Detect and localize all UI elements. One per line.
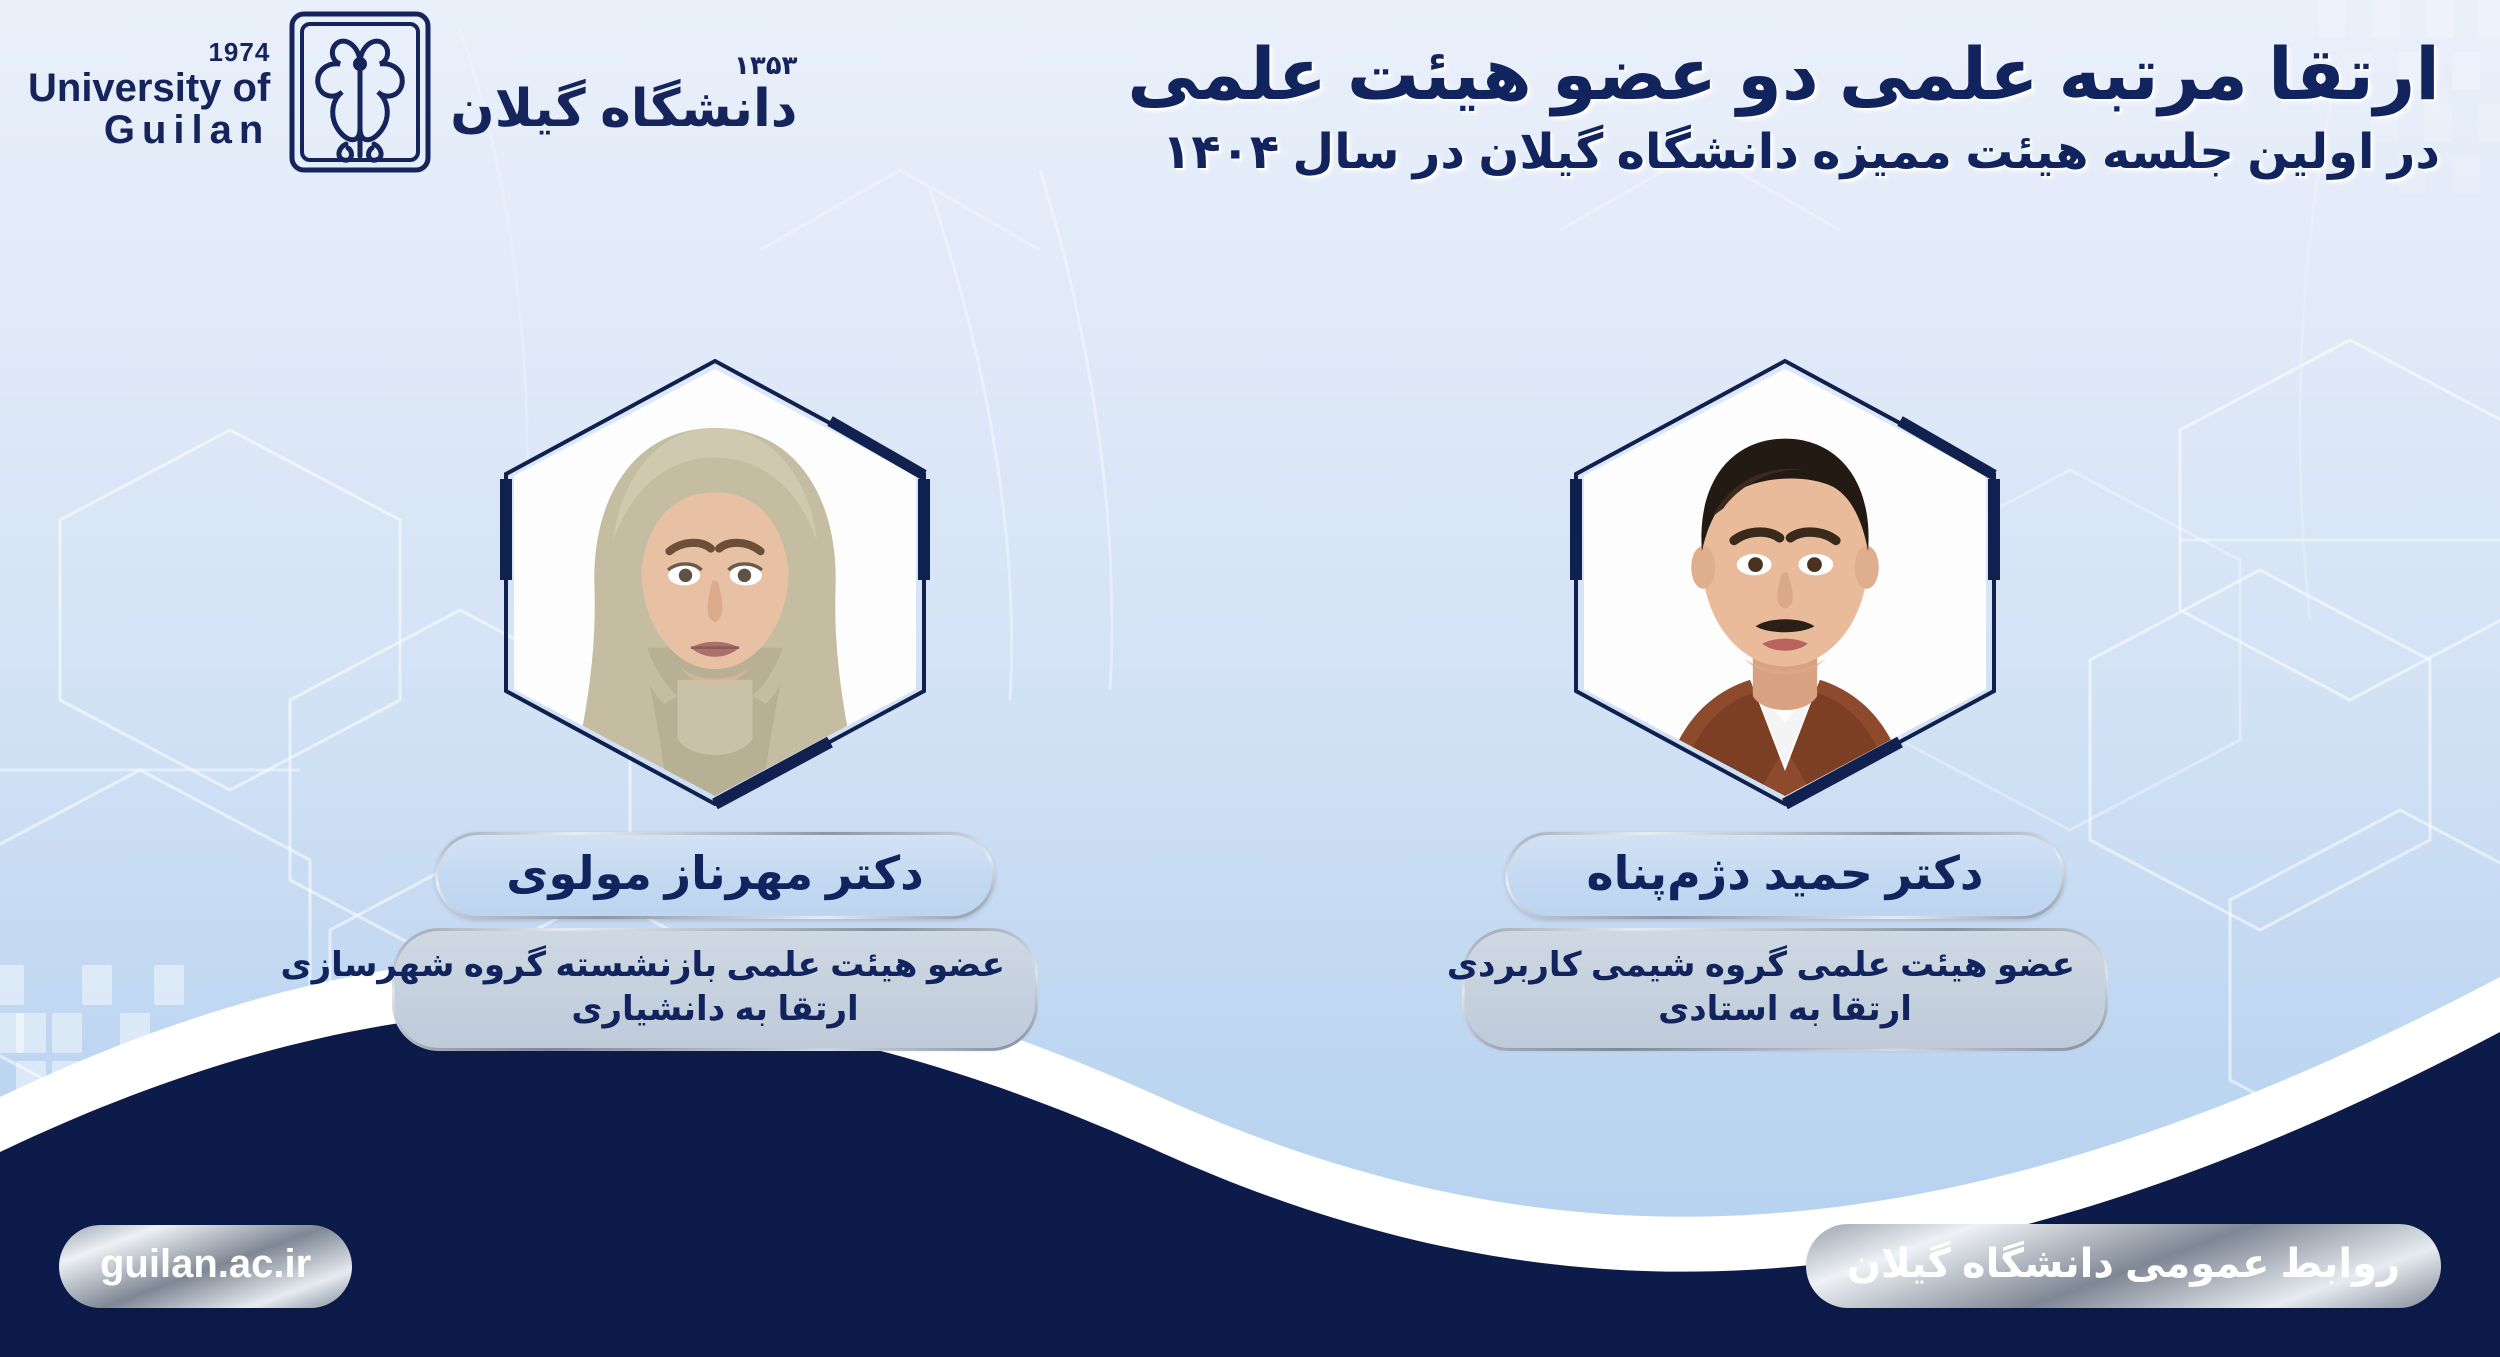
logo-persian-text: ۱۳۵۳ دانشگاه گیلان xyxy=(450,50,797,138)
public-relations-chip: روابط عمومی دانشگاه گیلان xyxy=(1809,1227,2438,1305)
website-chip[interactable]: guilan.ac.ir xyxy=(62,1228,349,1305)
promotion-announcement-poster: 1974 University of Guilan ۱۳۵۳ دانشگاه xyxy=(0,0,2500,1357)
person-role-line-1: عضو هیئت علمی بازنشسته گروه شهرسازی xyxy=(425,943,1005,988)
page-title: ارتقا مرتبه علمی دو عضو هیئت علمی xyxy=(1127,34,2440,118)
logo-english-line-1: University of xyxy=(28,67,270,109)
portrait-photo-hamid-dezhampanah xyxy=(1584,369,1986,796)
logo-english-line-2: Guilan xyxy=(104,109,270,151)
person-name-badge: دکتر حمید دژم‌پناه xyxy=(1505,832,2065,919)
page-subtitle: در اولین جلسه هیئت ممیزه دانشگاه گیلان د… xyxy=(1127,124,2440,182)
person-name-badge: دکتر مهرناز مولوی xyxy=(435,832,995,919)
website-label: guilan.ac.ir xyxy=(100,1242,311,1286)
logo-year-gregorian: 1974 xyxy=(208,39,270,65)
promoted-members-list: دکتر حمید دژم‌پناه عضو هیئت علمی گروه شی… xyxy=(0,355,2500,1048)
person-name: دکتر حمید دژم‌پناه xyxy=(1542,848,2028,899)
person-role-line-2: ارتقا به دانشیاری xyxy=(425,987,1005,1032)
logo-year-persian: ۱۳۵۳ xyxy=(734,50,797,81)
person-role-badge: عضو هیئت علمی بازنشسته گروه شهرسازی ارتق… xyxy=(395,931,1035,1049)
person-card: دکتر حمید دژم‌پناه عضو هیئت علمی گروه شی… xyxy=(1435,355,2135,1048)
person-name: دکتر مهرناز مولوی xyxy=(472,848,958,899)
university-logo: 1974 University of Guilan ۱۳۵۳ دانشگاه xyxy=(28,8,798,181)
person-role-line-2: ارتقا به استادی xyxy=(1495,987,2075,1032)
logo-english-text: 1974 University of Guilan xyxy=(28,39,270,151)
person-role-badge: عضو هیئت علمی گروه شیمی کاربردی ارتقا به… xyxy=(1465,931,2105,1049)
public-relations-label: روابط عمومی دانشگاه گیلان xyxy=(1847,1242,2400,1286)
logo-persian-name: دانشگاه گیلان xyxy=(450,81,797,138)
header-titles: ارتقا مرتبه علمی دو عضو هیئت علمی در اول… xyxy=(1127,34,2440,181)
person-card: دکتر مهرناز مولوی عضو هیئت علمی بازنشسته… xyxy=(365,355,1065,1048)
person-role-line-1: عضو هیئت علمی گروه شیمی کاربردی xyxy=(1495,943,2075,988)
portrait-photo-mehrnaz-molavi xyxy=(514,369,916,796)
portrait-hex-frame xyxy=(1570,355,2000,810)
portrait-hex-frame xyxy=(500,355,930,810)
guilan-butterfly-mark-icon xyxy=(286,8,434,181)
